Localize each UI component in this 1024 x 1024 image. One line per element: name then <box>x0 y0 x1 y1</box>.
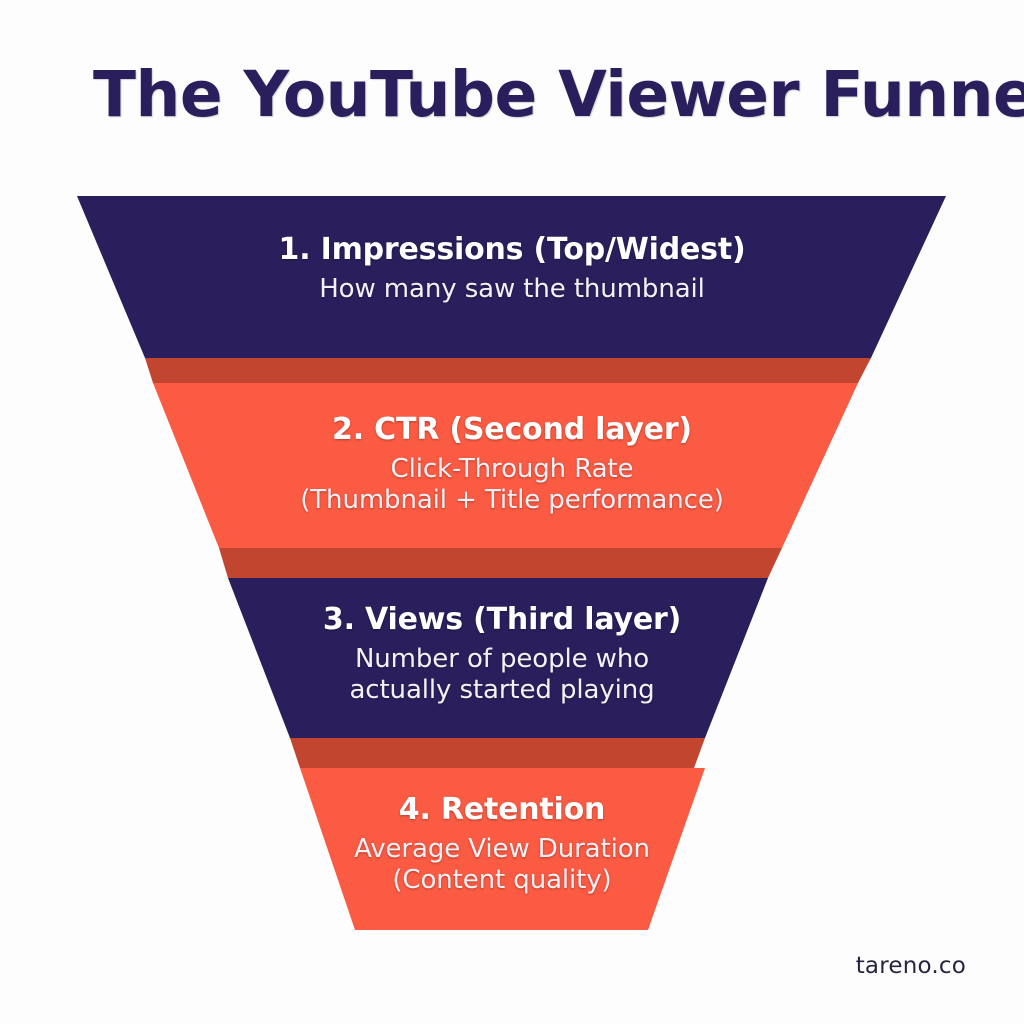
funnel-graphic <box>0 0 1024 1024</box>
funnel-shadow-band-3 <box>219 548 782 578</box>
funnel-layer-1-shape[interactable] <box>77 196 946 358</box>
funnel-shadow-band-2 <box>145 358 871 383</box>
watermark-label: tareno.co <box>856 953 966 979</box>
funnel-layer-4-shape[interactable] <box>300 768 705 930</box>
funnel-infographic: The YouTube Viewer Funnel 1. Impressions… <box>0 0 1024 1024</box>
funnel-layer-3-shape[interactable] <box>228 578 768 738</box>
funnel-layer-2-shape[interactable] <box>153 383 858 548</box>
funnel-shadow-band-4 <box>290 738 705 768</box>
